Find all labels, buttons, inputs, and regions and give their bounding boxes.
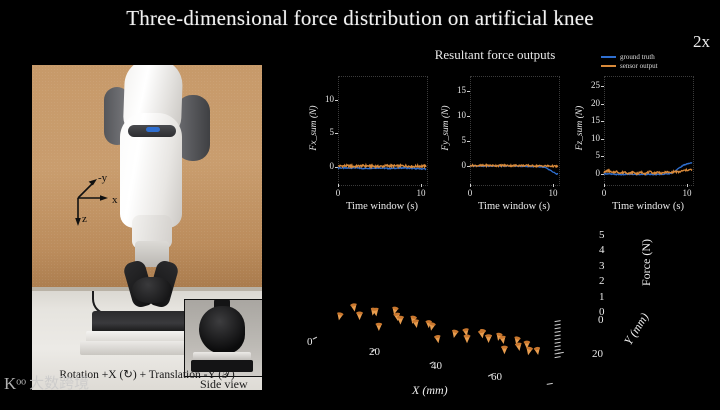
scatter-force-axis-tick bbox=[555, 342, 561, 343]
scatter-force-axis-tick bbox=[555, 324, 561, 325]
chart-force-distribution-3d: 0 20 40 60 X (mm) 0 20 Y (mm) 5 4 3 2 1 … bbox=[295, 228, 720, 405]
force-vector-cone bbox=[485, 334, 492, 343]
legend-swatch-ground-truth bbox=[601, 56, 616, 58]
charts-subtitle: Resultant force outputs bbox=[380, 47, 610, 63]
scatter-xtick-1: 20 bbox=[369, 346, 380, 358]
legend-item-sensor-output: sensor output bbox=[601, 61, 658, 70]
cone-base bbox=[464, 335, 471, 338]
scatter-force-axis-tick bbox=[555, 349, 561, 350]
scatter-ztick-5: 5 bbox=[599, 229, 605, 241]
force-vector-cone bbox=[356, 312, 363, 321]
plot-series-canvas bbox=[300, 72, 430, 212]
scatter-force-axis-tick bbox=[555, 321, 561, 322]
plot-series-canvas bbox=[564, 72, 696, 212]
side-view-inset bbox=[184, 299, 262, 377]
force-vector-cone bbox=[501, 346, 508, 355]
chart-fy-sum: 051015010Fy_sum (N)Time window (s) bbox=[432, 72, 562, 212]
legend-label-sensor-output: sensor output bbox=[620, 62, 658, 70]
force-vector-cone bbox=[525, 346, 533, 356]
scatter-xtick-0: 0 bbox=[307, 336, 313, 348]
scatter-ztick-4: 4 bbox=[599, 244, 605, 256]
scatter-force-axis-tick bbox=[555, 331, 561, 332]
scatter-force-axis-tick bbox=[555, 353, 561, 354]
series-line-ground-truth bbox=[470, 166, 558, 175]
watermark: Kᵒᵒ 大数跨境 bbox=[4, 375, 89, 392]
force-vector-cone bbox=[336, 312, 344, 321]
scatter-ztick-0: 0 bbox=[599, 306, 605, 318]
force-vector-cone bbox=[412, 319, 420, 329]
watermark-logo-icon: Kᵒᵒ bbox=[4, 375, 26, 392]
force-vector-cone bbox=[534, 346, 542, 355]
chart-fx-sum: 0510010Fx_sum (N)Time window (s) bbox=[300, 72, 430, 212]
cone-base bbox=[356, 312, 363, 315]
scatter-force-axis-tick bbox=[555, 346, 561, 347]
scatter-force-axis-tick bbox=[555, 357, 561, 358]
page-title: Three-dimensional force distribution on … bbox=[0, 6, 720, 31]
cone-base bbox=[485, 334, 492, 337]
series-line-sensor-output bbox=[338, 165, 426, 168]
scatter-xtick-2: 40 bbox=[431, 360, 442, 372]
scatter-force-axis-tick bbox=[555, 339, 561, 340]
scatter-xaxis-label: X (mm) bbox=[412, 383, 448, 398]
chart-fz-sum: 0510152025010Fz_sum (N)Time window (s) bbox=[564, 72, 696, 212]
force-vector-cone bbox=[515, 342, 523, 351]
force-vector-cone bbox=[350, 303, 358, 312]
coordinate-axes-overlay: -y x z bbox=[68, 170, 138, 230]
axis-label-z: z bbox=[82, 213, 87, 225]
side-view-knee-specimen bbox=[199, 306, 245, 354]
legend-item-ground-truth: ground truth bbox=[601, 52, 658, 61]
cone-base bbox=[397, 316, 404, 319]
force-vector-cone bbox=[451, 329, 459, 339]
playback-speed-badge: 2x bbox=[693, 32, 710, 52]
axis-label-x: x bbox=[112, 194, 118, 206]
scatter-ztick-1: 1 bbox=[599, 291, 605, 303]
plot-series-canvas bbox=[432, 72, 562, 212]
scatter-zaxis-label: Force (N) bbox=[639, 239, 654, 286]
cone-base bbox=[524, 341, 530, 344]
force-vector-cone bbox=[376, 323, 382, 331]
scatter-ytick-1: 20 bbox=[592, 348, 603, 360]
scatter-y-axis-tick bbox=[547, 383, 553, 384]
scatter-xtick-3: 60 bbox=[491, 371, 502, 383]
experiment-photo: -y x z Side view Rotation +X (↻) + Trans… bbox=[32, 65, 262, 390]
scatter-ztick-2: 2 bbox=[599, 275, 605, 287]
scatter-force-axis-tick bbox=[555, 328, 561, 329]
watermark-text: 大数跨境 bbox=[29, 376, 89, 391]
cone-base bbox=[376, 323, 382, 326]
slide-canvas: Three-dimensional force distribution on … bbox=[0, 0, 720, 405]
scatter-ztick-3: 3 bbox=[599, 260, 605, 272]
force-vector-cone bbox=[499, 335, 507, 344]
scatter-force-axis-tick bbox=[555, 335, 561, 336]
legend-label-ground-truth: ground truth bbox=[620, 53, 655, 61]
force-vector-cone bbox=[434, 335, 442, 344]
scatter-x-axis-tick bbox=[313, 337, 317, 339]
force-vector-cone bbox=[464, 335, 471, 344]
legend-swatch-sensor-output bbox=[601, 65, 616, 67]
scatter3d-canvas bbox=[295, 228, 720, 405]
charts-legend: ground truth sensor output bbox=[601, 52, 658, 70]
cone-base bbox=[501, 346, 508, 349]
robot-status-light bbox=[146, 127, 160, 132]
axis-label-negative-y: -y bbox=[98, 172, 107, 184]
